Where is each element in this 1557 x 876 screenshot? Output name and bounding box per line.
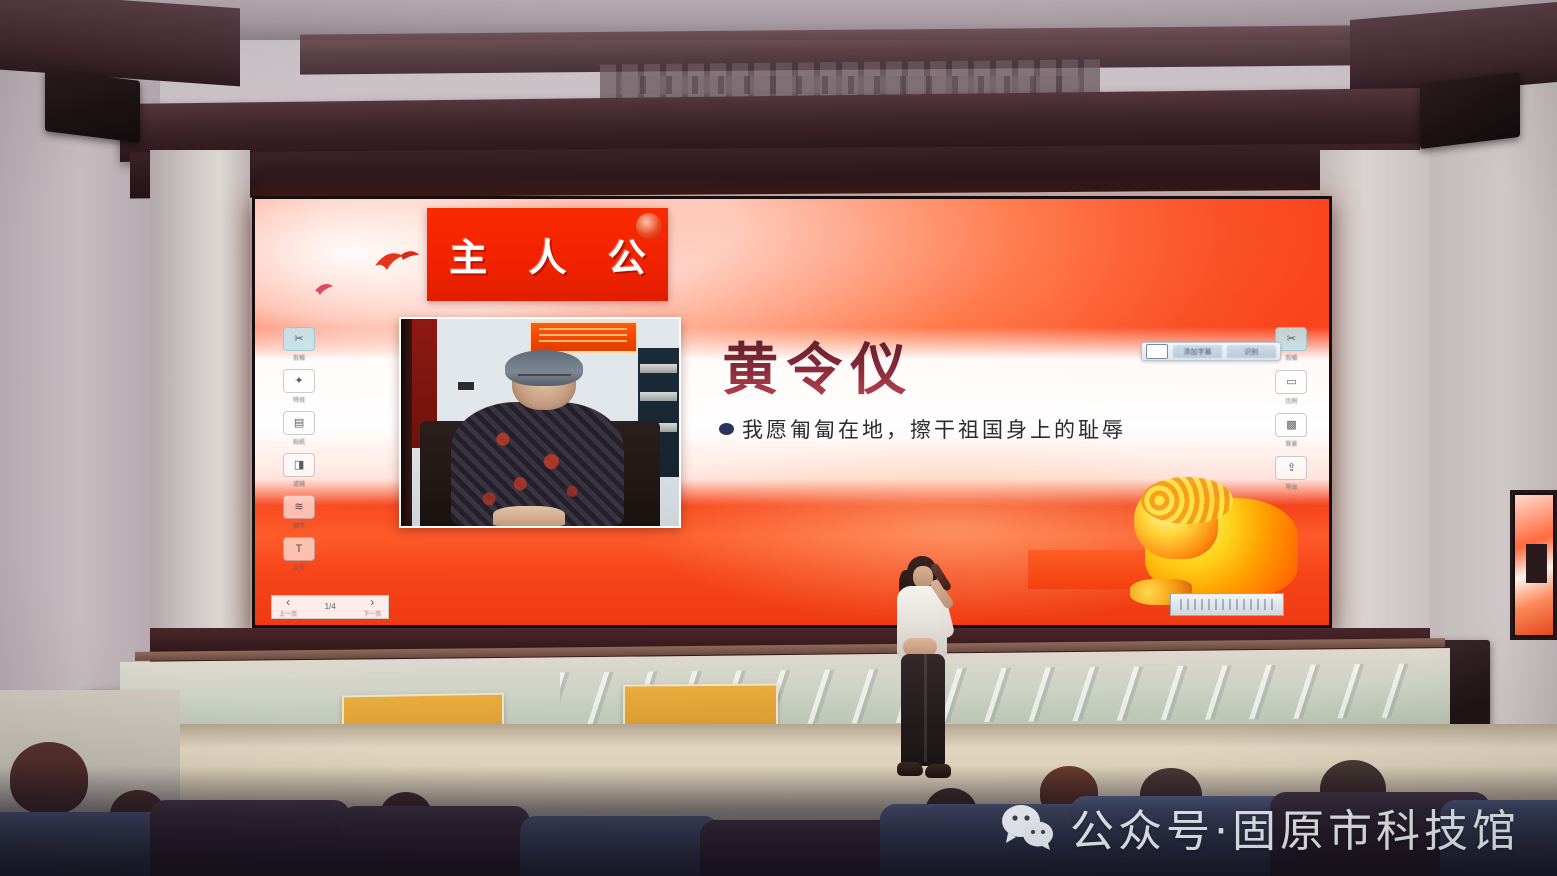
scissors-icon: ✂ (283, 327, 315, 351)
slide-quote-text: 我愿匍匐在地，擦干祖国身上的耻辱 (742, 414, 1126, 444)
stage-floor-shadow (0, 724, 1557, 748)
editor-left-toolbar[interactable]: ✂ 剪辑 ✦ 特效 ▤ 贴纸 ◨ 滤镜 ≋ 调节 (271, 323, 327, 510)
auditorium-photo: 主 人 公 (0, 0, 1557, 876)
tool-label-1: 特效 (293, 395, 305, 404)
watermark-text: 公众号·固原市科技馆 (1070, 795, 1520, 859)
slide-quote-row: 我愿匍匐在地，擦干祖国身上的耻辱 (719, 414, 1126, 444)
speaker-top-right (1420, 72, 1520, 149)
flying-bird-small-icon (314, 280, 340, 298)
portrait-plaque-text (539, 328, 627, 345)
frame-icon (1146, 344, 1168, 359)
portrait-subject-glasses (518, 374, 571, 383)
editor-caption-bar[interactable]: 添加字幕 识别 (1141, 342, 1281, 362)
lion-pedestal (1170, 593, 1283, 616)
portrait-wall-plaque (529, 321, 638, 352)
pillar-left (150, 150, 250, 710)
led-screen: 主 人 公 (252, 196, 1332, 628)
ceiling-vent-secondary (620, 76, 1080, 94)
slide-headline: 黄令仪 (722, 325, 914, 406)
side-monitor-screen (1515, 495, 1553, 635)
export-icon: ⇪ (1275, 456, 1307, 480)
presenter (885, 556, 965, 786)
right-tool-label-3: 导出 (1285, 482, 1297, 491)
slide-title-badge: 主 人 公 (427, 208, 669, 302)
slide-canvas: 主 人 公 (255, 199, 1329, 625)
right-tool-label-0: 剪辑 (1285, 353, 1297, 362)
right-tool-button-2[interactable]: ▩ 背景 (1272, 413, 1312, 448)
tool-label-2: 贴纸 (293, 437, 305, 446)
tool-button-0[interactable]: ✂ 剪辑 (277, 327, 322, 362)
slide-title-text: 主 人 公 (435, 227, 659, 282)
text-icon: T (283, 537, 315, 561)
golden-guardian-lion-icon (1130, 472, 1313, 617)
portrait-door-edge (401, 319, 412, 526)
pager-next-label: 下一页 (363, 609, 381, 618)
portrait-wall-switch (457, 381, 476, 390)
sliders-icon: ≋ (283, 495, 315, 519)
filter-icon: ◨ (283, 453, 315, 477)
pager-page-indicator: 1/4 (325, 602, 336, 611)
magic-wand-icon: ✦ (283, 369, 315, 393)
round-seal-icon (636, 213, 662, 239)
tool-button-4[interactable]: ≋ 调节 (277, 495, 322, 530)
slide-pager[interactable]: ‹ 上一页 1/4 › 下一页 (271, 595, 389, 618)
chevron-right-icon: › (370, 596, 374, 608)
flying-birds-icon (373, 246, 421, 280)
quote-bullet-icon (719, 423, 734, 435)
portrait-photo (399, 317, 681, 528)
right-tool-label-1: 比例 (1285, 396, 1297, 405)
side-monitor (1510, 490, 1557, 640)
sticker-icon: ▤ (283, 411, 315, 435)
pager-next-button[interactable]: › 下一页 (363, 596, 381, 618)
pager-prev-label: 上一页 (279, 609, 297, 618)
tool-button-1[interactable]: ✦ 特效 (277, 369, 322, 404)
pager-page-number: 1/4 (325, 602, 336, 611)
tool-label-5: 文字 (293, 563, 305, 572)
watermark: 公众号·固原市科技馆 (1000, 795, 1520, 859)
tool-button-2[interactable]: ▤ 贴纸 (277, 411, 322, 446)
tool-label-4: 调节 (293, 521, 305, 530)
pager-prev-button[interactable]: ‹ 上一页 (279, 596, 297, 618)
background-icon: ▩ (1275, 413, 1307, 437)
tool-button-3[interactable]: ◨ 滤镜 (277, 453, 322, 488)
lion-pedestal-pattern (1180, 599, 1273, 610)
chevron-left-icon: ‹ (286, 596, 290, 608)
lion-mane (1141, 477, 1232, 523)
speaker-top-left (45, 69, 140, 143)
portrait-subject-hands (493, 506, 565, 527)
stage-soffit (130, 143, 1420, 198)
caption-field-left[interactable]: 添加字幕 (1173, 345, 1222, 358)
side-monitor-content (1526, 544, 1547, 583)
right-tool-button-1[interactable]: ▭ 比例 (1272, 370, 1312, 405)
aspect-ratio-icon: ▭ (1275, 370, 1307, 394)
wechat-logo-icon (1000, 802, 1056, 852)
tool-label-3: 滤镜 (293, 479, 305, 488)
caption-field-right[interactable]: 识别 (1227, 345, 1276, 358)
presenter-leg-split (924, 654, 927, 762)
tool-label-0: 剪辑 (293, 353, 305, 362)
right-tool-label-2: 背景 (1285, 439, 1297, 448)
presenter-legs (901, 654, 945, 766)
pillar-right (1320, 150, 1430, 690)
right-tool-button-3[interactable]: ⇪ 导出 (1272, 456, 1312, 491)
tool-button-5[interactable]: T 文字 (277, 537, 322, 572)
